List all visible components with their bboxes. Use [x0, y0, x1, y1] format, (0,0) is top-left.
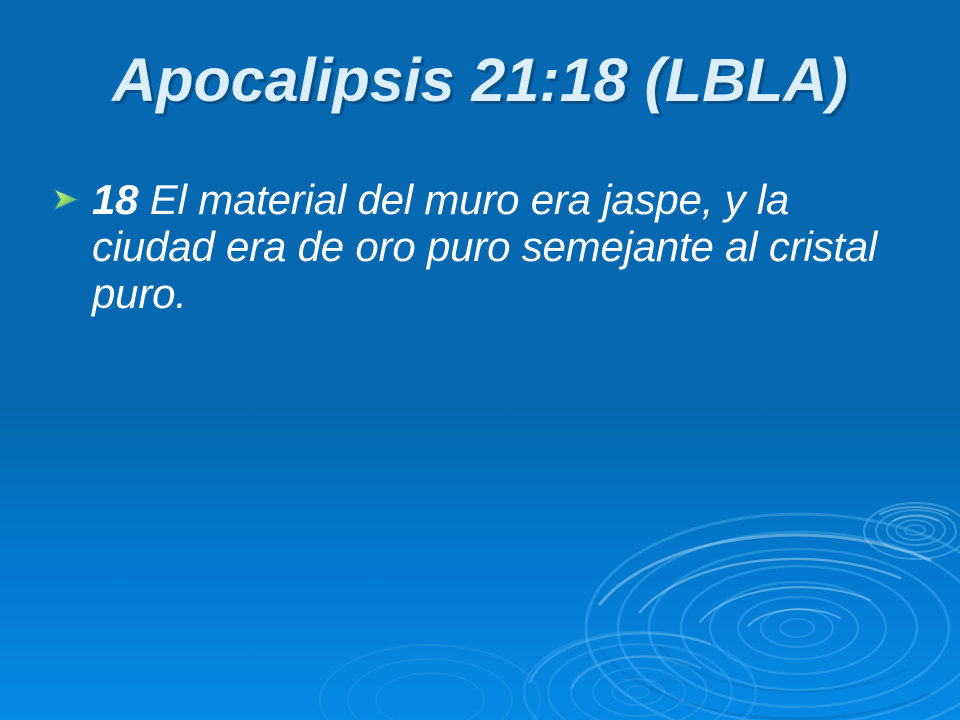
ripple-main-center-highlight	[600, 535, 930, 626]
list-item: 18 El material del muro era jaspe, y la …	[52, 176, 932, 317]
ripple-top-right-highlight	[880, 507, 948, 521]
ripple-far-left	[320, 645, 540, 720]
ripple-main-center	[586, 514, 960, 720]
slide-title-text: Apocalipsis 21:18 (LBLA)	[112, 48, 848, 112]
presentation-slide: Apocalipsis 21:18 (LBLA) 18 El mat	[0, 0, 960, 720]
slide-title: Apocalipsis 21:18 (LBLA)	[60, 48, 900, 112]
ripple-bottom-left-highlight	[530, 633, 710, 688]
green-arrowhead-bullet-icon	[52, 176, 92, 213]
ripple-main-center-shadow	[600, 648, 930, 719]
verse-body-text: El material del muro era jaspe, y la ciu…	[92, 176, 877, 317]
ripple-top-right	[864, 503, 960, 559]
verse-number: 18	[92, 176, 138, 223]
ripple-bottom-left	[524, 632, 756, 720]
slide-body: 18 El material del muro era jaspe, y la …	[52, 176, 932, 317]
list-item-text: 18 El material del muro era jaspe, y la …	[92, 176, 904, 317]
